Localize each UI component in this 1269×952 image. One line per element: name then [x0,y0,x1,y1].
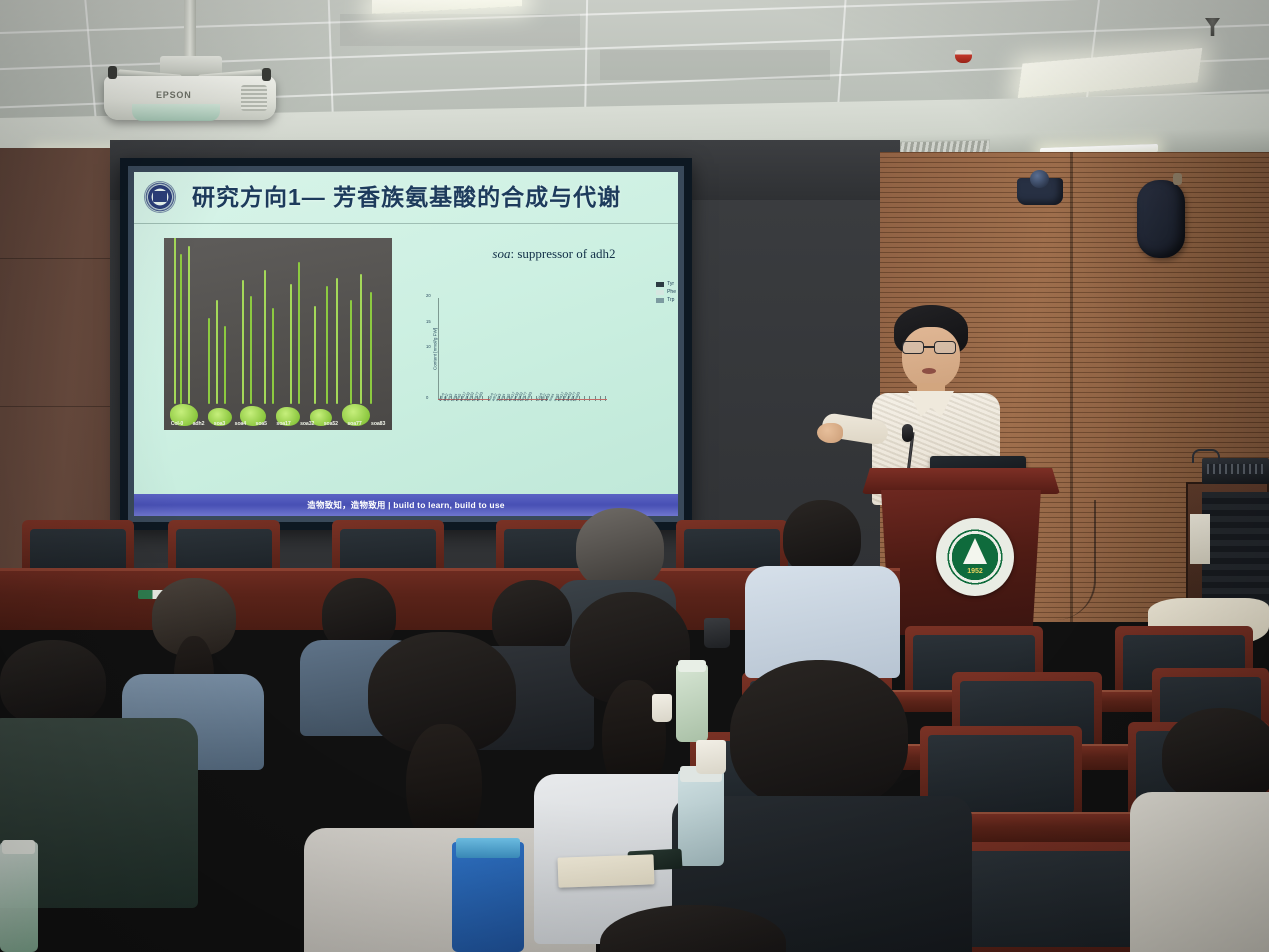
caption-text: : suppressor of adh2 [510,246,615,261]
legend-item-tyr: Tyr [656,280,676,288]
wall-speaker [1137,180,1185,258]
arabidopsis-plants-photo: Col-0 adh2 soa3 soa4 soa5 soa17 soa32 so… [164,238,392,430]
eyeglasses-right-lens [934,341,956,354]
projector-vent [241,85,267,111]
projection-screen: 研究方向1— 芳香族氨基酸的合成与代谢 [120,158,692,530]
lectern-body [876,490,1046,635]
lecture-hall-scene: EPSON 研究方向1— 芳香族氨基酸的合成与代谢 [0,0,1269,952]
paper-cup[interactable] [696,740,726,774]
genotype-label: adh2 [193,421,205,427]
presenter-mouth [922,368,936,374]
chart-bars [438,298,674,400]
photo-genotype-labels: Col-0 adh2 soa3 soa4 soa5 soa17 soa32 so… [166,421,390,427]
travel-mug[interactable] [704,618,730,648]
slide-title: 研究方向1— 芳香族氨基酸的合成与代谢 [192,178,668,212]
clear-plastic-bottle[interactable] [678,770,724,866]
genotype-label: soa77 [347,421,361,427]
ceiling-projector: EPSON [104,76,276,120]
bottle-cap[interactable] [2,840,35,854]
bottle-cap[interactable] [456,838,520,858]
audience-member [600,905,790,952]
slide-header: 研究方向1— 芳香族氨基酸的合成与代谢 [134,172,678,224]
fire-sprinkler [955,50,972,63]
caption-gene-name: soa [492,246,510,261]
projector-lens [132,104,220,121]
green-thermos[interactable] [676,664,708,742]
university-seal-logo [144,181,176,213]
presenter-face [902,327,960,389]
notebook [558,854,655,887]
projector-mount-pole [184,0,196,62]
y-tick-label: 15 [426,319,431,324]
slide-body: Col-0 adh2 soa3 soa4 soa5 soa17 soa32 so… [134,224,678,516]
chart-plot-area: Content [nmol/g FW] 0101520 [438,298,674,400]
legend-label: Phe [667,288,676,296]
clear-plastic-bottle[interactable] [0,842,38,952]
y-axis-label: Content [nmol/g FW] [433,328,438,370]
y-tick-label: 0 [426,395,428,400]
hunan-agricultural-university-emblem [936,518,1014,596]
rack-label-sheet [1190,514,1210,564]
genotype-label: soa32 [300,421,314,427]
genotype-label: soa5 [256,421,267,427]
screen-surface: 研究方向1— 芳香族氨基酸的合成与代谢 [128,166,684,522]
x-axis-ticks: Col-0adh2soa3soa4soa5soa17soa32soa52soa7… [438,400,674,424]
audience-member [745,500,895,670]
eyeglasses-bridge [924,346,934,348]
genotype-label: soa3 [214,421,225,427]
chart-caption: soa: suppressor of adh2 [434,246,674,262]
genotype-label: soa52 [324,421,338,427]
presenter-hand-with-clicker [817,423,843,443]
microphone [902,424,913,442]
genotype-label: soa4 [235,421,246,427]
presentation-slide: 研究方向1— 芳香族氨基酸的合成与代谢 [134,172,678,516]
eyeglasses-left-lens [902,341,924,354]
legend-item-phe: Phe [656,288,676,296]
projector-brand-label: EPSON [156,90,192,100]
bottle-cap[interactable] [678,660,706,672]
y-tick-label: 10 [426,344,431,349]
projector-knob [262,68,271,81]
genotype-label: soa17 [276,421,290,427]
legend-label: Tyr [667,280,674,288]
chair[interactable] [960,842,1150,952]
security-camera [1017,178,1063,205]
podium-cable [1040,500,1096,620]
genotype-label: Col-0 [171,421,183,427]
paper-cup[interactable] [652,694,672,722]
y-tick-label: 20 [426,293,431,298]
audience-member [1140,708,1269,952]
projector-knob [108,66,117,79]
genotype-label: soa83 [371,421,385,427]
blue-water-bottle[interactable] [452,842,524,952]
amino-acid-bar-chart: Tyr Phe Trp [412,280,678,430]
legend-swatch [656,290,664,295]
audio-mixing-console[interactable] [1202,458,1269,484]
legend-swatch [656,282,664,287]
